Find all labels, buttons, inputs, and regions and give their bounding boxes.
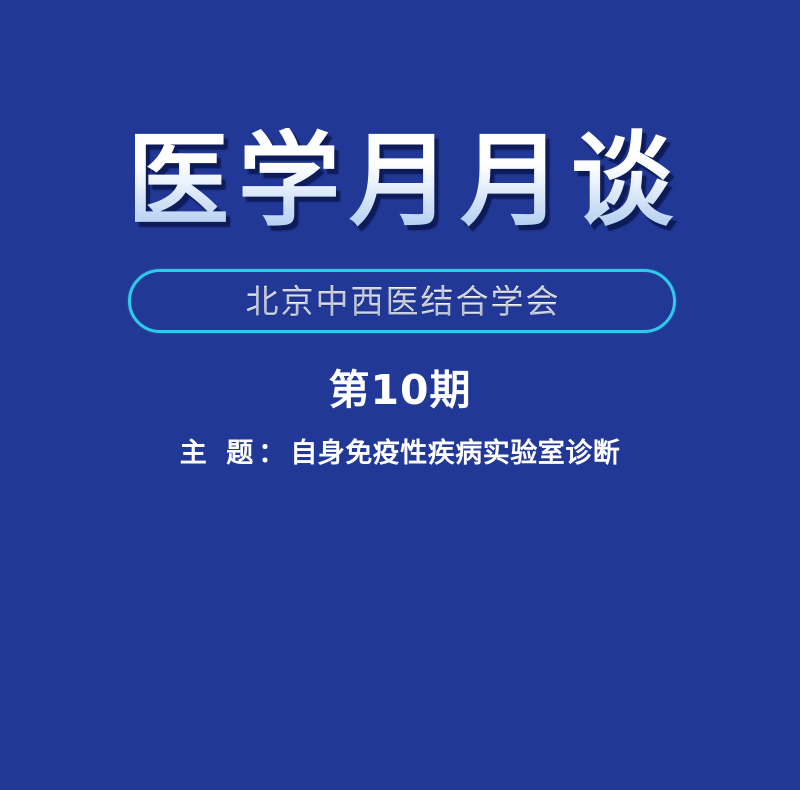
main-title-block: 医学月月谈 [0, 128, 800, 234]
page-title: 医学月月谈 [118, 128, 682, 234]
organization-badge: 北京中西医结合学会 [128, 269, 676, 333]
topic-value: 自身免疫性疾病实验室诊断 [290, 438, 620, 469]
organization-name: 北京中西医结合学会 [244, 285, 561, 318]
issue-number: 第10期 [0, 370, 800, 411]
poster-canvas: 医学月月谈 医学月月谈 北京中西医结合学会 第10期 主 题：自身免疫性疾病实验… [0, 0, 800, 790]
lower-blank-area [0, 500, 800, 790]
topic-line: 主 题：自身免疫性疾病实验室诊断 [0, 440, 800, 467]
topic-label: 主 题： [180, 438, 290, 469]
